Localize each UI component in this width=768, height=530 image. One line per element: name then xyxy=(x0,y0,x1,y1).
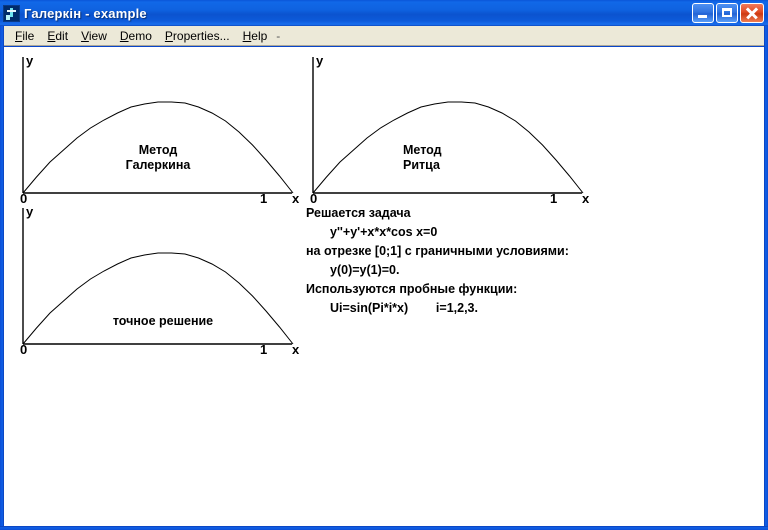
plot-ritz[interactable]: y x 0 1 Метод Ритца xyxy=(298,51,588,207)
description-line-4: y(0)=y(1)=0. xyxy=(306,261,746,280)
client-area: y x 0 1 Метод Галеркина y x 0 1 Метод Ри… xyxy=(4,47,764,526)
application-window: Галеркін - example File Edit View Demo P… xyxy=(0,0,768,530)
menu-item-edit[interactable]: Edit xyxy=(41,27,75,45)
problem-description: Решается задача y''+y'+x*x*cos x=0 на от… xyxy=(306,204,746,318)
plot-ritz-y-label: y xyxy=(316,53,323,68)
window-controls xyxy=(692,3,764,23)
plot-exact[interactable]: y x 0 1 точное решение xyxy=(8,202,298,358)
menu-trailing-mark: - xyxy=(276,29,280,43)
plot-exact-canvas xyxy=(8,202,298,358)
menu-item-help[interactable]: Help xyxy=(237,27,275,45)
plot-galerkin[interactable]: y x 0 1 Метод Галеркина xyxy=(8,51,298,207)
app-icon[interactable] xyxy=(3,5,20,22)
plot-ritz-caption: Метод Ритца xyxy=(403,143,513,173)
window-title: Галеркін - example xyxy=(24,6,147,21)
plot-galerkin-caption: Метод Галеркина xyxy=(93,143,223,173)
plot-exact-y-label: y xyxy=(26,204,33,219)
plot-ritz-canvas xyxy=(298,51,588,207)
description-line-5: Используются пробные функции: xyxy=(306,280,746,299)
plot-exact-curve xyxy=(23,253,293,344)
minimize-button[interactable] xyxy=(692,3,714,23)
description-line-3: на отрезке [0;1] с граничными условиями: xyxy=(306,242,746,261)
description-line-1: Решается задача xyxy=(306,204,746,223)
description-line-2: y''+y'+x*x*cos x=0 xyxy=(306,223,746,242)
plot-galerkin-canvas xyxy=(8,51,298,207)
menu-item-demo[interactable]: Demo xyxy=(114,27,159,45)
plot-exact-tick-0: 0 xyxy=(20,342,27,357)
description-line-6: Ui=sin(Pi*i*x) i=1,2,3. xyxy=(306,299,746,318)
window-border-bottom xyxy=(0,526,768,530)
plot-galerkin-y-label: y xyxy=(26,53,33,68)
menu-item-view[interactable]: View xyxy=(75,27,114,45)
menu-item-file[interactable]: File xyxy=(9,27,41,45)
menu-bar: File Edit View Demo Properties... Help - xyxy=(4,26,764,46)
plot-exact-x-label: x xyxy=(292,342,299,357)
plot-exact-tick-1: 1 xyxy=(260,342,267,357)
maximize-button[interactable] xyxy=(716,3,738,23)
title-bar[interactable]: Галеркін - example xyxy=(0,0,768,26)
menu-item-properties[interactable]: Properties... xyxy=(159,27,237,45)
window-border-right xyxy=(764,26,768,530)
plot-exact-caption: точное решение xyxy=(78,314,248,329)
close-button[interactable] xyxy=(740,3,764,23)
